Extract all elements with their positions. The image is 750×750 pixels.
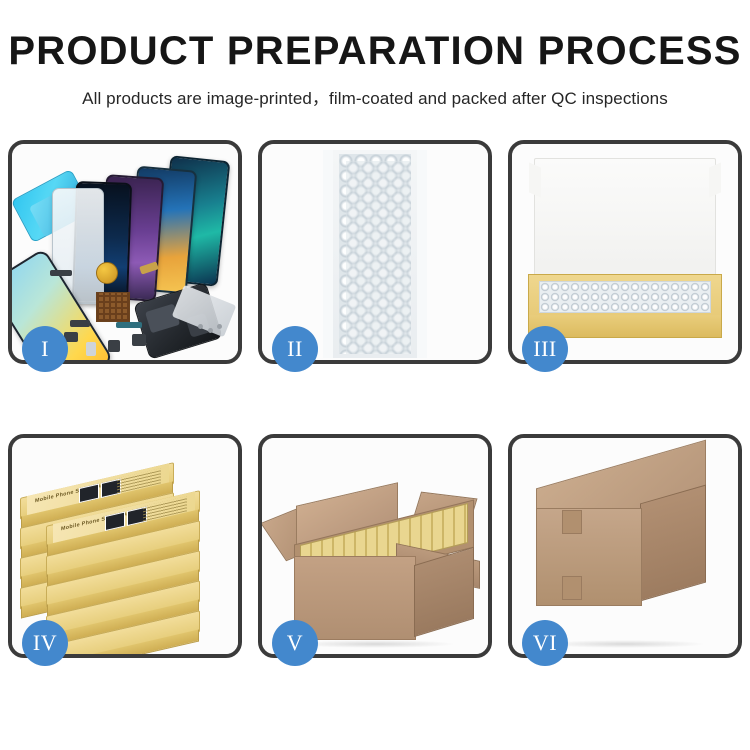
sealed-carton-side-face-icon (640, 485, 706, 602)
box-tray-icon (528, 274, 722, 338)
part-bar-3-icon (70, 320, 90, 327)
sealed-carton-shadow (544, 640, 707, 648)
bubble-wrap-illustration (323, 150, 427, 358)
step-badge-3: III (522, 326, 568, 372)
sealed-carton-tab-top-icon (562, 510, 582, 534)
page-subtitle: All products are image-printed，film-coat… (0, 84, 750, 109)
screws-icon (198, 324, 224, 338)
open-carton-illustration (276, 468, 474, 640)
sealed-carton-tab-bottom-icon (562, 576, 582, 600)
bubble-pattern-overlay-icon (346, 161, 411, 354)
part-bar-1-icon (50, 270, 72, 276)
part-bar-6-icon (108, 340, 120, 352)
box-lid-icon (534, 158, 716, 280)
part-bar-5-icon (132, 334, 146, 346)
open-inner-box-illustration (528, 158, 722, 338)
step-badge-1: I (22, 326, 68, 372)
stacked-boxes-illustration: Mobile Phone Spare Parts Mobile Pho (18, 454, 232, 642)
part-bar-7-icon (86, 342, 96, 356)
step-badge-4: IV (22, 620, 68, 666)
product-preparation-infographic: PRODUCT PREPARATION PROCESS All products… (0, 0, 750, 750)
step-badge-6: VI (522, 620, 568, 666)
speaker-coil-icon (96, 262, 118, 284)
sealed-carton-front-face-icon (536, 508, 642, 606)
screw-tray-icon (96, 292, 130, 322)
process-step-5: V (258, 434, 492, 658)
process-step-4: Mobile Phone Spare Parts Mobile Pho (8, 434, 242, 658)
process-step-3: III (508, 140, 742, 364)
page-title: PRODUCT PREPARATION PROCESS (0, 30, 750, 72)
process-step-2: II (258, 140, 492, 364)
process-step-1: I (8, 140, 242, 364)
sealed-carton-illustration (528, 464, 724, 636)
carton-shadow (294, 640, 457, 648)
part-bar-4-icon (116, 322, 142, 328)
process-step-6: VI (508, 434, 742, 658)
header: PRODUCT PREPARATION PROCESS All products… (0, 0, 750, 109)
step-badge-2: II (272, 326, 318, 372)
step-badge-5: V (272, 620, 318, 666)
process-step-grid: I II III (8, 140, 742, 688)
bubble-wrapped-product-icon (539, 281, 711, 313)
